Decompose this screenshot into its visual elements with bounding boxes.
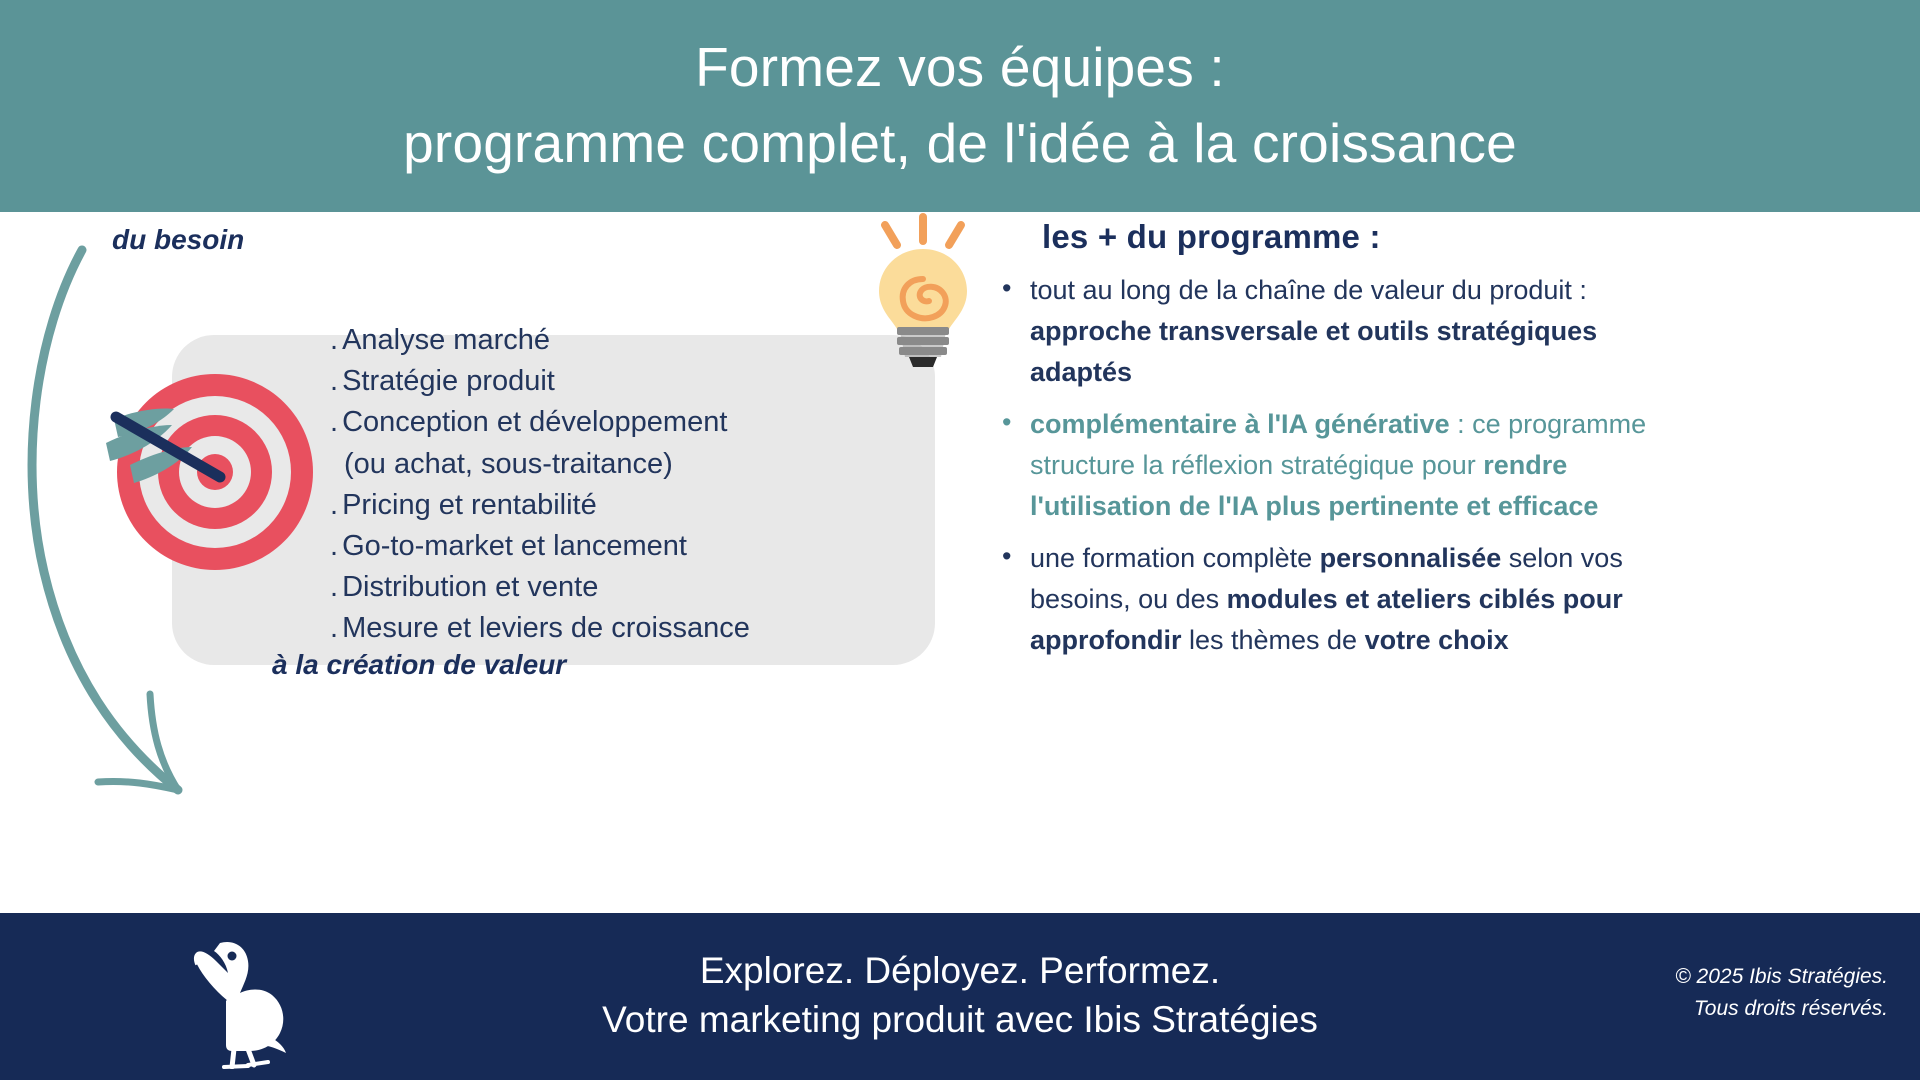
slide-body: du besoin .Analyse marché [0, 212, 1920, 913]
label-du-besoin: du besoin [112, 224, 244, 256]
list-item-text: Analyse marché [342, 324, 550, 356]
copyright-line-2: Tous droits réservés. [1675, 993, 1888, 1025]
list-item: tout au long de la chaîne de valeur du p… [994, 270, 1694, 393]
bullseye-target-icon [100, 347, 330, 577]
process-list: .Analyse marché .Stratégie produit .Conc… [330, 320, 930, 649]
lightbulb-icon [863, 209, 983, 369]
list-item-text: Go-to-market et lancement [342, 530, 687, 562]
list-marker: . [330, 365, 338, 397]
footer-copyright: © 2025 Ibis Stratégies. Tous droits rése… [1675, 961, 1888, 1025]
tagline-line-2: Votre marketing produit avec Ibis Straté… [400, 996, 1520, 1045]
list-item: .Mesure et leviers de croissance [330, 608, 930, 649]
list-item: (ou achat, sous-traitance) [330, 444, 930, 485]
list-item-text: Distribution et vente [342, 571, 598, 603]
list-marker: . [330, 530, 338, 562]
header-title-line-2: programme complet, de l'idée à la croiss… [403, 106, 1517, 182]
list-item-text: (ou achat, sous-traitance) [344, 448, 673, 480]
left-panel: du besoin .Analyse marché [0, 212, 980, 913]
tagline-line-1: Explorez. Déployez. Performez. [400, 947, 1520, 996]
bullet-segment: les thèmes de [1181, 625, 1364, 655]
slide-header: Formez vos équipes : programme complet, … [0, 0, 1920, 212]
copyright-line-1: © 2025 Ibis Stratégies. [1675, 961, 1888, 993]
list-marker: . [330, 489, 338, 521]
ibis-bird-logo-icon [170, 929, 300, 1069]
list-item-text: Pricing et rentabilité [342, 489, 597, 521]
bullet-segment-bold: votre choix [1365, 625, 1509, 655]
plus-programme-heading: les + du programme : [1042, 218, 1381, 256]
list-marker: . [330, 406, 338, 438]
list-item-text: Conception et développement [342, 406, 727, 438]
list-marker: . [330, 571, 338, 603]
list-marker: . [330, 612, 338, 644]
plus-programme-list: tout au long de la chaîne de valeur du p… [994, 270, 1694, 672]
list-item: une formation complète personnalisée sel… [994, 538, 1694, 661]
header-title-line-1: Formez vos équipes : [695, 30, 1225, 106]
list-item: .Go-to-market et lancement [330, 526, 930, 567]
list-item: .Analyse marché [330, 320, 930, 361]
bullet-segment: tout au long de la chaîne de valeur du p… [1030, 275, 1587, 305]
bullet-segment-bold: complémentaire à l'IA générative [1030, 409, 1450, 439]
bullet-segment-bold: approche transversale et outils stratégi… [1030, 316, 1597, 387]
slide-footer: Explorez. Déployez. Performez. Votre mar… [0, 913, 1920, 1080]
slide-root: Formez vos équipes : programme complet, … [0, 0, 1920, 1080]
list-marker: . [330, 324, 338, 356]
list-item: .Conception et développement [330, 402, 930, 443]
list-item: .Pricing et rentabilité [330, 485, 930, 526]
bullet-segment-bold: personnalisée [1320, 543, 1502, 573]
list-item: .Distribution et vente [330, 567, 930, 608]
list-item-text: Stratégie produit [342, 365, 555, 397]
label-creation-de-valeur: à la création de valeur [272, 649, 566, 681]
list-item: complémentaire à l'IA générative : ce pr… [994, 404, 1694, 527]
list-item: .Stratégie produit [330, 361, 930, 402]
footer-tagline: Explorez. Déployez. Performez. Votre mar… [400, 947, 1520, 1045]
right-panel: les + du programme : tout au long de la … [980, 212, 1920, 913]
list-item-text: Mesure et leviers de croissance [342, 612, 750, 644]
bullet-segment: une formation complète [1030, 543, 1320, 573]
